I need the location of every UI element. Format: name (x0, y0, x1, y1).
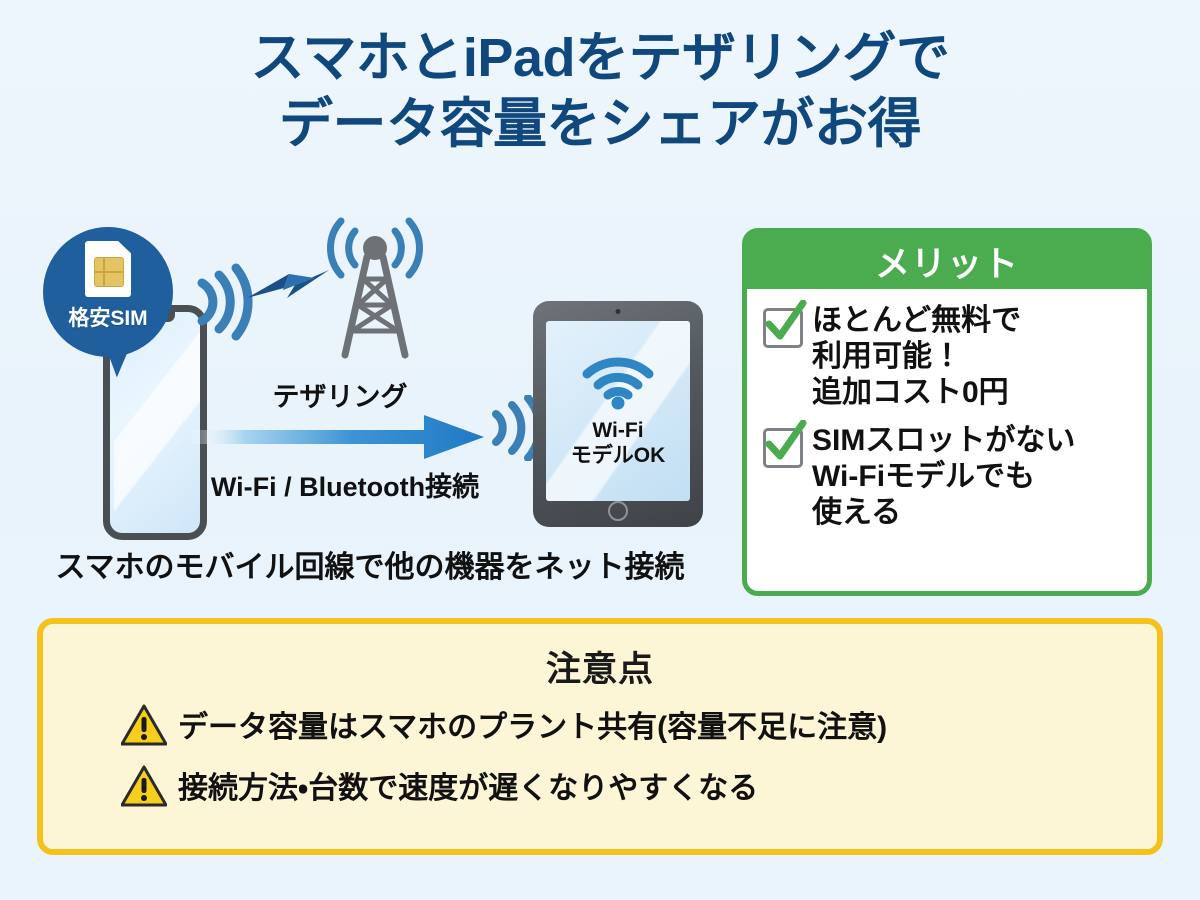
merit-list: ほとんど無料で 利用可能！ 追加コスト0円 SIMスロットがない Wi-Fiモデ… (747, 289, 1147, 531)
tablet-camera (616, 309, 621, 314)
title-line-2: データ容量をシェアがお得 (0, 92, 1200, 158)
merit-2-line-3: 使える (812, 495, 1075, 531)
diagram-caption: スマホのモバイル回線で他の機器をネット接続 (40, 542, 700, 586)
tethering-arrow (192, 413, 484, 461)
sim-badge-label: 格安SIM (68, 302, 147, 332)
tablet-signal-arcs-icon (482, 395, 536, 466)
checkbox-checked-icon (763, 428, 803, 468)
merit-2-line-2: Wi-Fiモデルでも (812, 459, 1075, 495)
cheap-sim-badge: 格安SIM (43, 227, 173, 357)
merit-heading: メリット (747, 233, 1147, 289)
page-title: スマホとiPadをテザリングで データ容量をシェアがお得 (0, 26, 1200, 158)
tablet-caption-line-1: Wi-Fi (571, 419, 666, 444)
merit-1-line-3: 追加コスト0円 (812, 375, 1021, 411)
tablet-caption: Wi-Fi モデルOK (571, 419, 666, 469)
tethering-label: テザリング (190, 375, 490, 414)
merit-item-text: SIMスロットがない Wi-Fiモデルでも 使える (812, 423, 1075, 531)
checkbox-checked-icon (763, 308, 803, 348)
notice-item-text: 接続方法・台数で速度が遅くなりやすくなる (178, 772, 758, 805)
notice-heading: 注意点 (43, 641, 1157, 692)
cell-tower-icon (305, 213, 445, 363)
merit-2-line-1: SIMスロットがない (812, 423, 1075, 459)
infographic-canvas: スマホとiPadをテザリングで データ容量をシェアがお得 格安SIM (0, 0, 1200, 900)
merit-box: メリット ほとんど無料で 利用可能！ 追加コスト0円 (742, 228, 1152, 596)
notice-item: 接続方法・台数で速度が遅くなりやすくなる (121, 765, 1157, 812)
notice-item: データ容量はスマホのプラント共有(容量不足に注意) (121, 704, 1157, 751)
tablet-device: Wi-Fi モデルOK (533, 301, 703, 527)
merit-item: SIMスロットがない Wi-Fiモデルでも 使える (763, 423, 1135, 531)
warning-triangle-icon (121, 704, 167, 751)
sim-card-icon (85, 241, 131, 297)
connection-type-label: Wi-Fi / Bluetooth接続 (165, 465, 525, 504)
tablet-home-button (608, 501, 628, 521)
merit-item: ほとんど無料で 利用可能！ 追加コスト0円 (763, 303, 1135, 411)
merit-item-text: ほとんど無料で 利用可能！ 追加コスト0円 (812, 303, 1021, 411)
merit-1-line-2: 利用可能！ (812, 339, 1021, 375)
wifi-icon (581, 354, 655, 415)
title-line-1: スマホとiPadをテザリングで (0, 26, 1200, 92)
merit-1-line-1: ほとんど無料で (812, 303, 1021, 339)
notice-list: データ容量はスマホのプラント共有(容量不足に注意) 接続方法・台数で速度が遅くな… (43, 704, 1157, 812)
notice-box: 注意点 データ容量はスマホのプラント共有(容量不足に注意) (37, 618, 1163, 855)
warning-triangle-icon (121, 765, 167, 812)
sim-chip (94, 257, 124, 287)
tablet-screen: Wi-Fi モデルOK (546, 321, 690, 501)
tethering-diagram: 格安SIM (0, 205, 730, 605)
tablet-caption-line-2: モデルOK (571, 444, 666, 469)
notice-item-text: データ容量はスマホのプラント共有(容量不足に注意) (178, 711, 887, 744)
